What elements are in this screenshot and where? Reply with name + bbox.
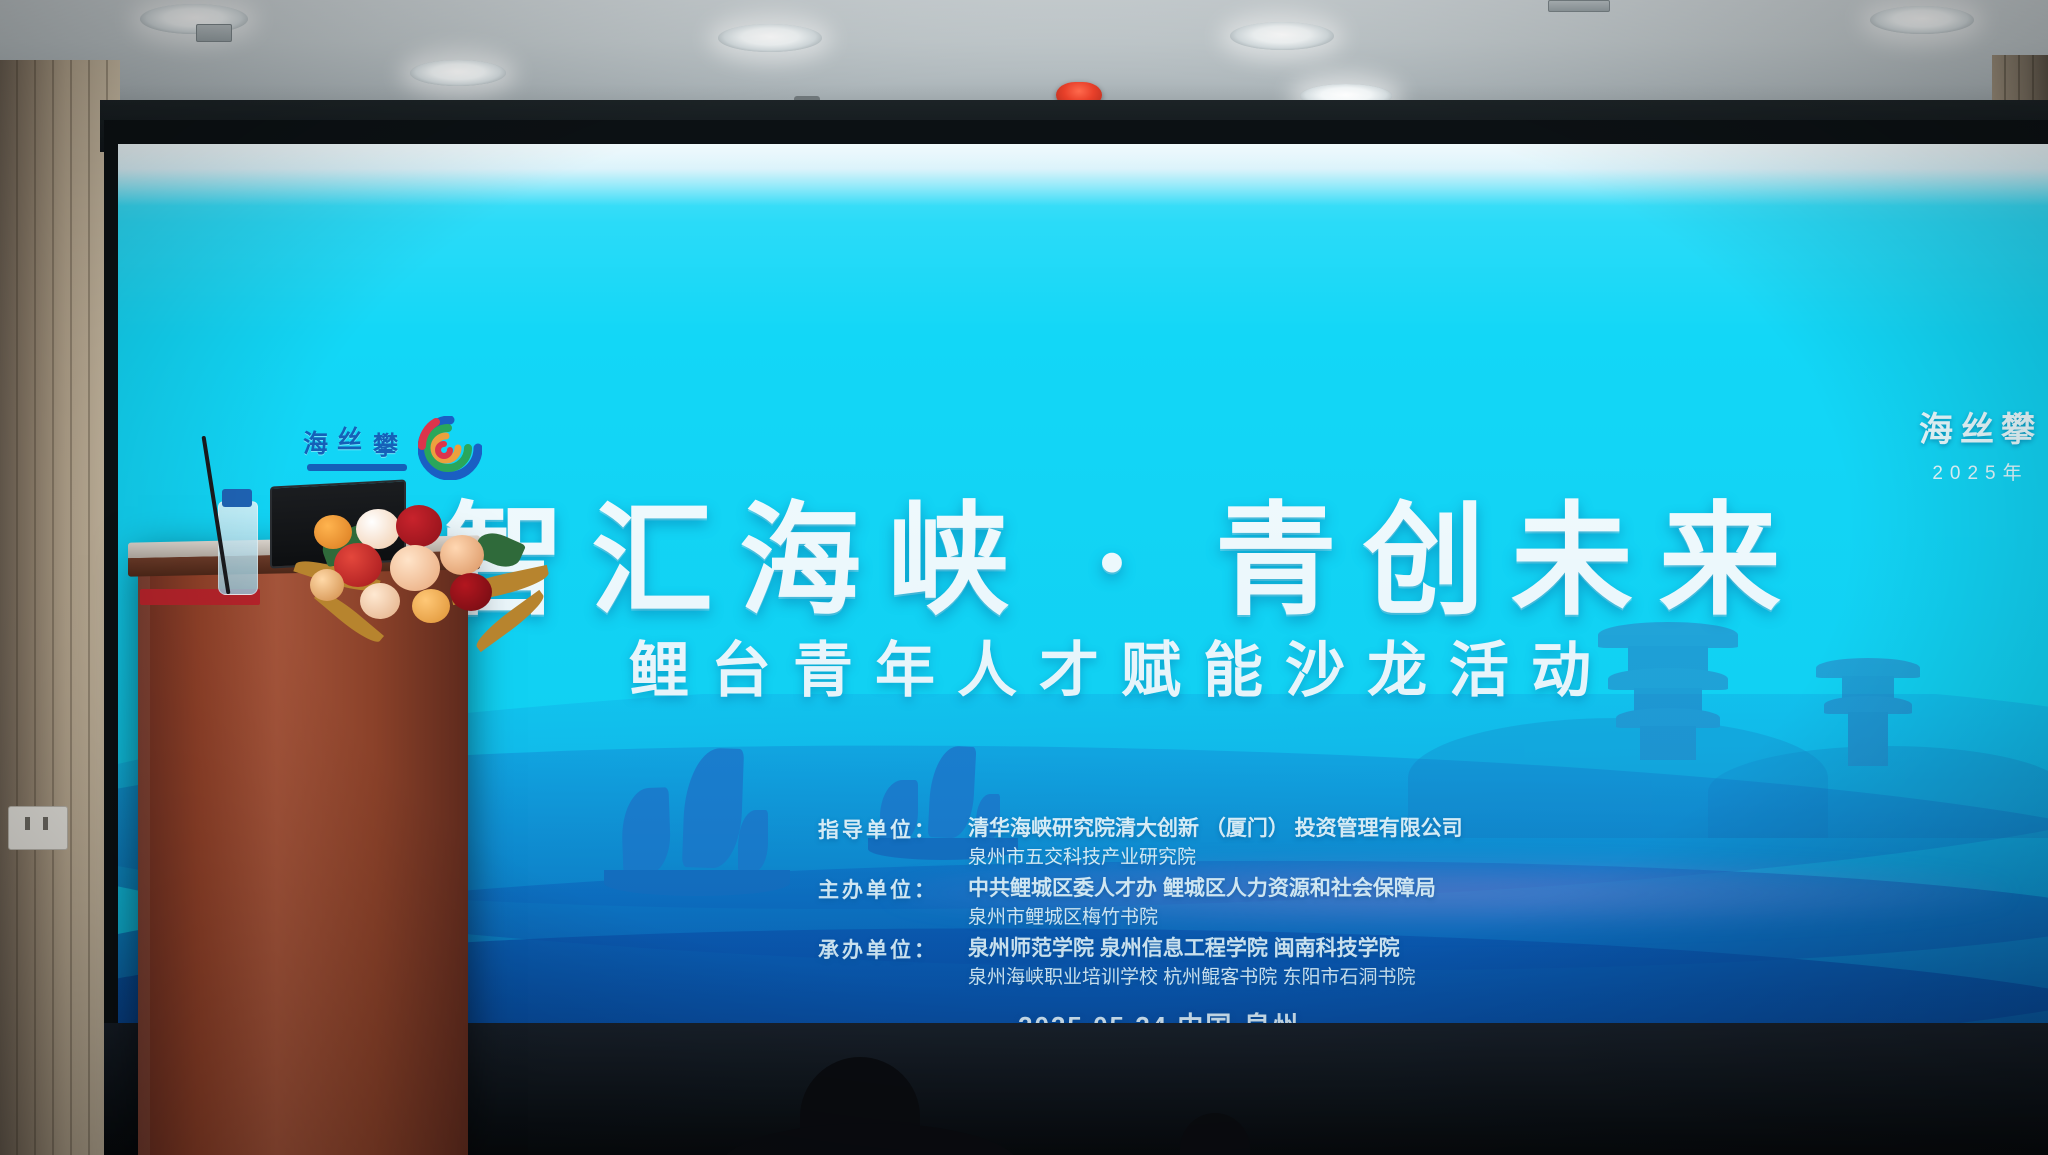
podium-edge-highlight	[138, 555, 150, 1155]
credit-value: 泉州市五交科技产业研究院	[968, 843, 1463, 872]
ceiling-downlight	[410, 60, 506, 86]
bottle-cap	[222, 489, 252, 507]
credit-value: 泉州师范学院 泉州信息工程学院 闽南科技学院	[968, 934, 1416, 963]
credit-label: 主办单位：	[818, 874, 968, 904]
banner-date-line: 2025.05.24 中国·泉州	[1018, 1006, 1300, 1024]
credit-values: 清华海峡研究院清大创新 （厦门） 投资管理有限公司 泉州市五交科技产业研究院	[968, 814, 1463, 872]
credit-values: 泉州师范学院 泉州信息工程学院 闽南科技学院 泉州海峡职业培训学校 杭州鲲客书院…	[968, 934, 1416, 992]
credit-values: 中共鲤城区委人才办 鲤城区人力资源和社会保障局 泉州市鲤城区梅竹书院	[968, 874, 1436, 932]
brand-line-1: 海丝攀	[1919, 402, 2042, 451]
credit-label: 承办单位：	[818, 934, 968, 964]
wall-outlet	[8, 806, 68, 850]
ceiling-vent	[1548, 0, 1610, 12]
ceiling-downlight	[1870, 6, 1974, 34]
credit-value: 中共鲤城区委人才办 鲤城区人力资源和社会保障局	[968, 874, 1436, 903]
ceiling-vent	[196, 24, 232, 42]
credit-row: 主办单位： 中共鲤城区委人才办 鲤城区人力资源和社会保障局 泉州市鲤城区梅竹书院	[818, 874, 1463, 932]
credit-value: 泉州市鲤城区梅竹书院	[968, 903, 1436, 932]
banner-top-glow	[118, 144, 2048, 206]
flower-arrangement	[300, 505, 550, 685]
ceiling-downlight	[718, 24, 822, 52]
credit-row: 指导单位： 清华海峡研究院清大创新 （厦门） 投资管理有限公司 泉州市五交科技产…	[818, 814, 1463, 872]
credit-label: 指导单位：	[818, 814, 968, 844]
conference-photo-scene: 海 丝 攀 海丝攀 2025年 智汇海峡 · 青创未来 鲤台青年人才赋能沙龙活动…	[0, 0, 2048, 1155]
ceiling-downlight	[1230, 22, 1334, 50]
boat-graphic	[588, 748, 808, 898]
banner-credits: 指导单位： 清华海峡研究院清大创新 （厦门） 投资管理有限公司 泉州市五交科技产…	[818, 814, 1463, 994]
credit-value: 清华海峡研究院清大创新 （厦门） 投资管理有限公司	[968, 814, 1463, 843]
credit-row: 承办单位： 泉州师范学院 泉州信息工程学院 闽南科技学院 泉州海峡职业培训学校 …	[818, 934, 1463, 992]
left-wall-panel	[0, 60, 120, 1155]
credit-value: 泉州海峡职业培训学校 杭州鲲客书院 东阳市石洞书院	[968, 963, 1416, 992]
